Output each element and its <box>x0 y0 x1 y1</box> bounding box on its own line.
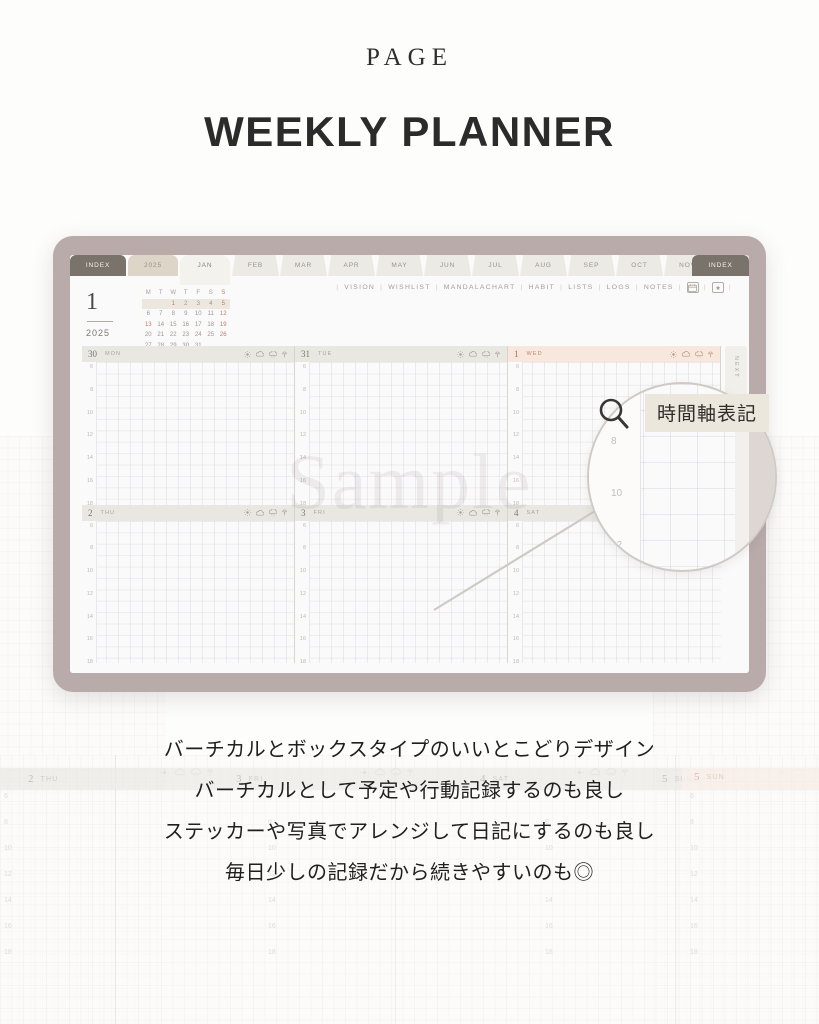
nav-separator: | <box>516 284 529 291</box>
rain-cloud-icon <box>482 509 490 516</box>
umbrella-icon <box>495 351 500 358</box>
hour-label: 6 <box>295 521 309 544</box>
nav-separator: | <box>555 284 568 291</box>
hour-label: 10 <box>508 566 522 589</box>
tab-month-aug[interactable]: AUG <box>520 255 567 276</box>
mini-cal-day[interactable]: 5 <box>217 299 230 310</box>
page-kicker: PAGE <box>0 44 819 72</box>
mini-cal-day[interactable]: 19 <box>217 320 230 331</box>
mini-cal-dow: F <box>192 288 205 299</box>
rain-cloud-icon <box>695 351 703 358</box>
cloud-icon <box>256 510 264 516</box>
next-label: NEXT <box>733 356 739 379</box>
callout-label: 時間軸表記 <box>645 394 769 432</box>
nav-item-habit[interactable]: HABIT <box>529 284 556 291</box>
tab-month-jun[interactable]: JUN <box>424 255 471 276</box>
mini-cal-day[interactable]: 13 <box>142 320 155 331</box>
hour-label: 12 <box>82 589 96 612</box>
hour-label: 14 <box>82 453 96 476</box>
nav-separator: | <box>594 284 607 291</box>
hour-label: 8 <box>295 543 309 566</box>
mini-cal-day[interactable]: 2 <box>180 299 193 310</box>
sun-icon <box>244 509 251 516</box>
tab-month-mar[interactable]: MAR <box>280 255 327 276</box>
hour-label: 18 <box>82 657 96 673</box>
copy-line-2: バーチカルとして予定や行動記録するのも良し <box>0 774 819 803</box>
nav-item-notes[interactable]: NOTES <box>644 284 674 291</box>
day-header: 31 TUE <box>295 346 507 362</box>
mini-calendar-week: 13 14 15 16 17 18 19 <box>142 320 230 331</box>
tab-month-sep[interactable]: SEP <box>568 255 615 276</box>
day-column-tue[interactable]: 31 TUE 6 <box>295 346 508 505</box>
mini-cal-dow: W <box>167 288 180 299</box>
mini-cal-day[interactable]: 16 <box>180 320 193 331</box>
sun-icon <box>457 509 464 516</box>
hour-label: 6 <box>82 362 96 385</box>
hour-label: 8 <box>508 385 522 408</box>
mini-cal-day[interactable]: 11 <box>205 309 218 320</box>
mini-cal-day[interactable]: 20 <box>142 330 155 341</box>
mini-cal-dow: S <box>205 288 218 299</box>
nav-separator: | <box>631 284 644 291</box>
hour-label: 10 <box>295 566 309 589</box>
tab-month-may[interactable]: MAY <box>376 255 423 276</box>
hour-label: 8 <box>82 385 96 408</box>
weather-icon-group[interactable] <box>457 351 500 358</box>
tab-index-right[interactable]: INDEX <box>692 255 749 276</box>
cloud-icon <box>469 351 477 357</box>
weather-icon-group[interactable] <box>670 351 713 358</box>
mini-cal-dow: T <box>155 288 168 299</box>
hour-label: 12 <box>508 430 522 453</box>
mini-cal-day[interactable]: 1 <box>167 299 180 310</box>
hour-label: 14 <box>508 612 522 635</box>
mini-cal-day[interactable]: 17 <box>192 320 205 331</box>
hour-label: 14 <box>508 453 522 476</box>
hour-label: 14 <box>295 453 309 476</box>
hour-label: 10 <box>295 408 309 431</box>
hour-axis: 6 8 10 12 14 16 18 20 22 <box>295 362 310 505</box>
day-body[interactable] <box>295 362 507 505</box>
tab-month-feb[interactable]: FEB <box>232 255 279 276</box>
cloud-icon <box>682 351 690 357</box>
day-body[interactable] <box>82 362 294 505</box>
month-rule <box>87 321 113 322</box>
day-number: 30 <box>88 349 97 359</box>
day-name: SAT <box>527 510 541 516</box>
hour-label: 12 <box>295 430 309 453</box>
hour-label: 14 <box>82 612 96 635</box>
mini-calendar-header-row: M T W T F S S <box>142 288 230 299</box>
weather-icon-group[interactable] <box>457 509 500 516</box>
umbrella-icon <box>708 351 713 358</box>
magnified-hour-label: 12 <box>607 540 640 572</box>
hour-label: 16 <box>82 634 96 657</box>
sun-icon <box>670 351 677 358</box>
day-name: FRI <box>314 510 326 516</box>
hour-label: 18 <box>295 657 309 673</box>
hour-label: 16 <box>508 476 522 499</box>
nav-separator: | <box>674 284 687 291</box>
hour-label: 6 <box>508 521 522 544</box>
mini-cal-dow-sunday: S <box>217 288 230 299</box>
mini-cal-day[interactable]: 6 <box>142 309 155 320</box>
mini-cal-day[interactable]: 4 <box>205 299 218 310</box>
day-header-highlighted: 1 WED <box>508 346 720 362</box>
copy-line-4: 毎日少しの記録だから続きやすいのも◎ <box>0 856 819 885</box>
day-name: MON <box>105 351 121 357</box>
hour-label: 8 <box>295 385 309 408</box>
hour-axis: 6 8 10 12 14 16 18 20 22 <box>82 521 97 664</box>
hour-axis: 6 8 10 12 14 16 18 20 22 <box>508 521 523 664</box>
weather-icon-group[interactable] <box>244 351 287 358</box>
mini-cal-day[interactable]: 24 <box>192 330 205 341</box>
day-header: 3 FRI <box>295 505 507 521</box>
mini-cal-dow: T <box>180 288 193 299</box>
hour-label: 10 <box>508 408 522 431</box>
hour-label: 6 <box>508 362 522 385</box>
cloud-icon <box>256 351 264 357</box>
nav-item-lists[interactable]: LISTS <box>568 284 593 291</box>
hour-label: 16 <box>508 634 522 657</box>
tab-index-left[interactable]: INDEX <box>70 255 126 276</box>
day-header: 2 THU <box>82 505 294 521</box>
day-header: 30 MON <box>82 346 294 362</box>
hour-label: 18 <box>508 657 522 673</box>
magnified-hour-label: 8 <box>607 436 640 488</box>
hour-label: 16 <box>295 476 309 499</box>
rain-cloud-icon <box>269 509 277 516</box>
tab-month-oct[interactable]: OCT <box>616 255 663 276</box>
weather-icon-group[interactable] <box>244 509 287 516</box>
mini-cal-day[interactable]: 3 <box>192 299 205 310</box>
mini-cal-day[interactable]: 8 <box>167 309 180 320</box>
hour-axis: 6 8 10 12 14 16 18 20 22 <box>295 521 310 664</box>
day-name: WED <box>527 351 543 357</box>
day-number: 4 <box>514 508 519 518</box>
nav-item-logs[interactable]: LOGS <box>607 284 631 291</box>
day-column-mon[interactable]: 30 MON 6 <box>82 346 295 505</box>
hour-label: 14 <box>295 612 309 635</box>
mini-cal-day[interactable]: 14 <box>155 320 168 331</box>
day-column-fri[interactable]: 3 FRI 6 <box>295 505 508 664</box>
copy-line-3: ステッカーや写真でアレンジして日記にするのも良し <box>0 815 819 844</box>
mini-cal-day[interactable]: 18 <box>205 320 218 331</box>
mini-cal-day[interactable]: 12 <box>217 309 230 320</box>
page-root: PAGE WEEKLY PLANNER 20 <box>0 0 819 1024</box>
magnified-hour-label: 10 <box>607 488 640 540</box>
mini-calendar-week: 1 2 3 4 5 <box>142 299 230 310</box>
day-body[interactable] <box>82 521 294 664</box>
mini-cal-day[interactable]: 10 <box>192 309 205 320</box>
mini-cal-dow: M <box>142 288 155 299</box>
magnifier-icon <box>597 397 631 431</box>
hour-axis: 6 8 10 12 14 16 18 20 22 <box>508 362 523 505</box>
day-number: 2 <box>88 508 93 518</box>
mini-calendar-week: 20 21 22 23 24 25 26 <box>142 330 230 341</box>
star-box-icon[interactable] <box>712 282 724 293</box>
mini-cal-day[interactable]: 23 <box>180 330 193 341</box>
mini-calendar-week: 6 7 8 9 10 11 12 <box>142 309 230 320</box>
day-number: 31 <box>301 349 310 359</box>
mini-cal-day[interactable]: 9 <box>180 309 193 320</box>
calendar-icon[interactable] <box>687 282 699 293</box>
day-column-thu[interactable]: 2 THU 6 <box>82 505 295 664</box>
mini-cal-day[interactable]: 25 <box>205 330 218 341</box>
nav-separator: | <box>724 284 737 291</box>
hour-label: 12 <box>82 430 96 453</box>
nav-separator: | <box>431 284 444 291</box>
hour-axis: 6 8 10 12 14 16 18 20 22 <box>82 362 97 505</box>
nav-item-mandalachart[interactable]: MANDALACHART <box>444 284 516 291</box>
hour-label: 8 <box>508 543 522 566</box>
mini-calendar-table: M T W T F S S 1 2 <box>142 288 230 351</box>
umbrella-icon <box>282 351 287 358</box>
mini-calendar[interactable]: M T W T F S S 1 2 <box>142 288 230 351</box>
hour-label: 12 <box>295 589 309 612</box>
rain-cloud-icon <box>269 351 277 358</box>
mini-cal-day[interactable]: 15 <box>167 320 180 331</box>
mini-cal-day[interactable] <box>155 299 168 310</box>
day-number: 3 <box>301 508 306 518</box>
mini-cal-day[interactable]: 21 <box>155 330 168 341</box>
page-title: WEEKLY PLANNER <box>0 108 819 156</box>
mini-cal-day[interactable]: 7 <box>155 309 168 320</box>
copy-line-1: バーチカルとボックスタイプのいいとこどりデザイン <box>0 733 819 762</box>
hour-label: 10 <box>82 408 96 431</box>
nav-separator: | <box>375 284 388 291</box>
day-body[interactable] <box>295 521 507 664</box>
nav-separator: | <box>331 284 344 291</box>
nav-item-vision[interactable]: VISION <box>344 284 375 291</box>
day-name: TUE <box>318 351 332 357</box>
hour-label: 16 <box>82 476 96 499</box>
day-number: 1 <box>514 349 519 359</box>
umbrella-icon <box>282 509 287 516</box>
nav-item-wishlist[interactable]: WISHLIST <box>388 284 431 291</box>
sun-icon <box>244 351 251 358</box>
hour-label: 10 <box>82 566 96 589</box>
day-name: THU <box>101 510 116 516</box>
tab-month-jan[interactable]: JAN <box>180 255 230 285</box>
tab-month-jul[interactable]: JUL <box>472 255 519 276</box>
tab-year[interactable]: 2025 <box>128 255 178 276</box>
planner-nav-row: | VISION | WISHLIST | MANDALACHART | HAB… <box>331 282 737 293</box>
hour-label: 6 <box>82 521 96 544</box>
month-tab-strip: INDEX 2025 JAN FEB MAR APR MAY JUN JUL A… <box>70 255 749 276</box>
mini-cal-day[interactable] <box>142 299 155 310</box>
cloud-icon <box>469 510 477 516</box>
umbrella-icon <box>495 509 500 516</box>
nav-separator: | <box>699 284 712 291</box>
rain-cloud-icon <box>482 351 490 358</box>
mini-cal-day[interactable]: 26 <box>217 330 230 341</box>
hour-label: 6 <box>295 362 309 385</box>
sun-icon <box>457 351 464 358</box>
mini-cal-day[interactable]: 22 <box>167 330 180 341</box>
tab-month-apr[interactable]: APR <box>328 255 375 276</box>
hour-label: 8 <box>82 543 96 566</box>
hour-label: 12 <box>508 589 522 612</box>
hour-label: 16 <box>295 634 309 657</box>
